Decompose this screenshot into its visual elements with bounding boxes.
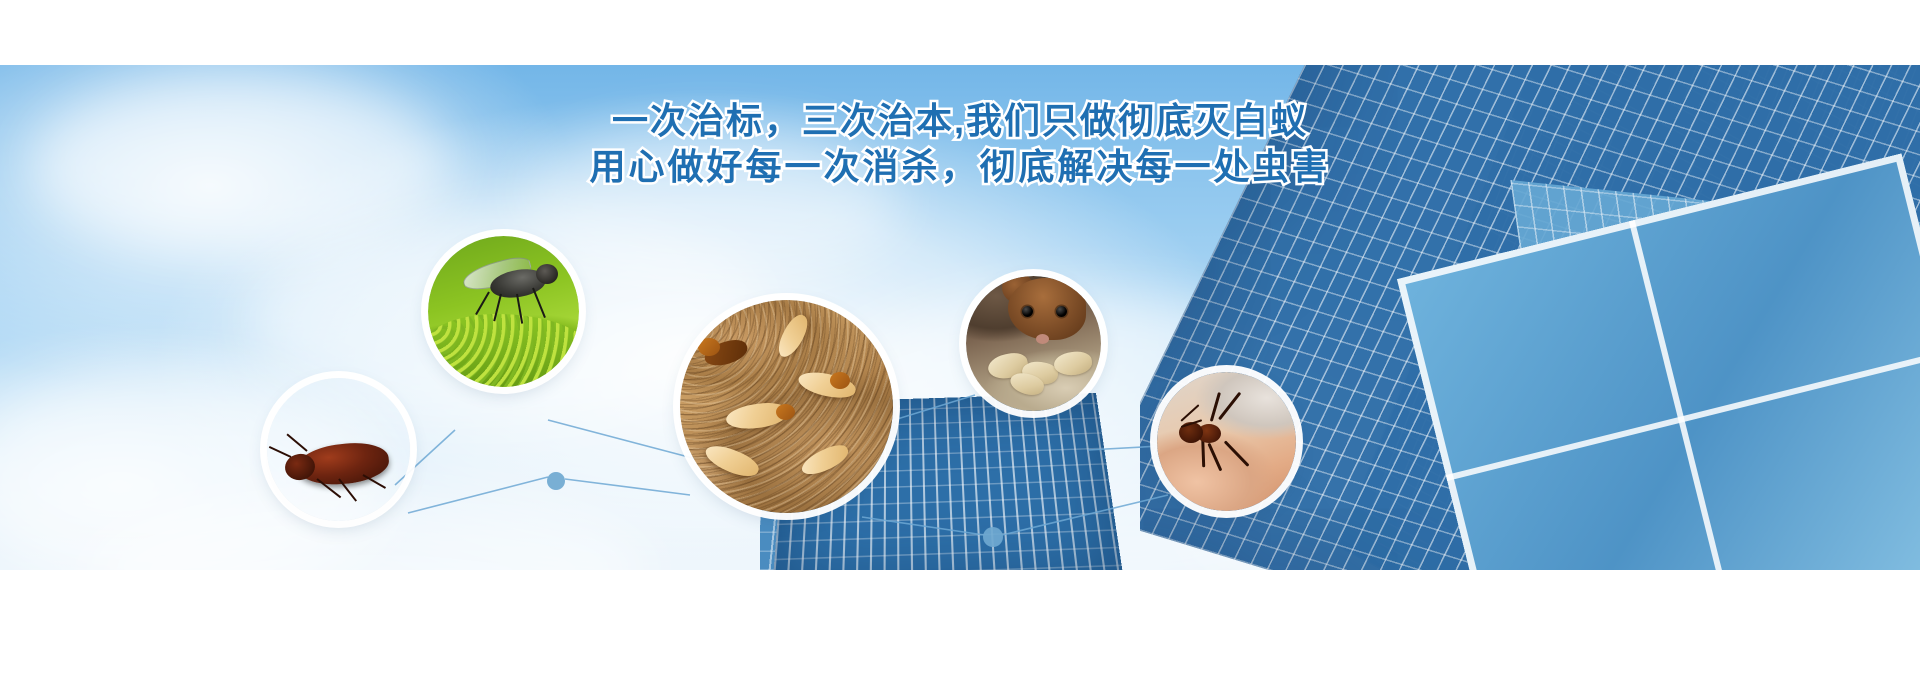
pest-bubble-fly[interactable] (428, 236, 579, 387)
bottom-white-bar (0, 570, 1920, 695)
top-white-bar (0, 0, 1920, 65)
cockroach-photo (267, 378, 410, 521)
food-seed (1053, 350, 1093, 377)
mouse-eye (1056, 306, 1067, 317)
fly-leg (532, 288, 546, 318)
link-termite-node (862, 517, 984, 535)
termite-head (830, 372, 850, 389)
link-fly-termite (548, 420, 700, 460)
pest-bubble-termite[interactable] (680, 300, 893, 513)
fly-photo (428, 236, 579, 387)
mouse-nose (1036, 334, 1049, 344)
pest-bubble-cockroach[interactable] (267, 378, 410, 521)
ant-leg (1208, 443, 1222, 471)
ant-leg (1218, 392, 1241, 420)
ant-photo (1157, 372, 1296, 511)
pest-bubble-mouse[interactable] (966, 276, 1101, 411)
termite-photo (680, 300, 893, 513)
network-node-left (547, 472, 565, 490)
cockroach-antenna (269, 446, 292, 458)
mouse-head-body (1008, 278, 1086, 340)
mouse-eye (1022, 306, 1033, 317)
link-node-ant (1002, 495, 1168, 535)
termite-head (776, 404, 795, 420)
cockroach-leg (286, 434, 307, 452)
network-node-right (983, 527, 1003, 547)
fly-head (536, 264, 558, 284)
pest-control-banner: 一次治标，三次治本,我们只做彻底灭白蚁 用心做好每一次消杀，彻底解决每一处虫害 (0, 0, 1920, 695)
link-cockroach-node (408, 477, 548, 513)
link-node-termite (565, 479, 690, 495)
mouse-photo (966, 276, 1101, 411)
ant-leg (1202, 439, 1205, 467)
termite-soldier-head (698, 338, 720, 356)
fly-leg (475, 292, 490, 316)
pest-bubble-ant[interactable] (1157, 372, 1296, 511)
ant-antenna (1180, 404, 1199, 422)
moss-ground (428, 314, 579, 387)
